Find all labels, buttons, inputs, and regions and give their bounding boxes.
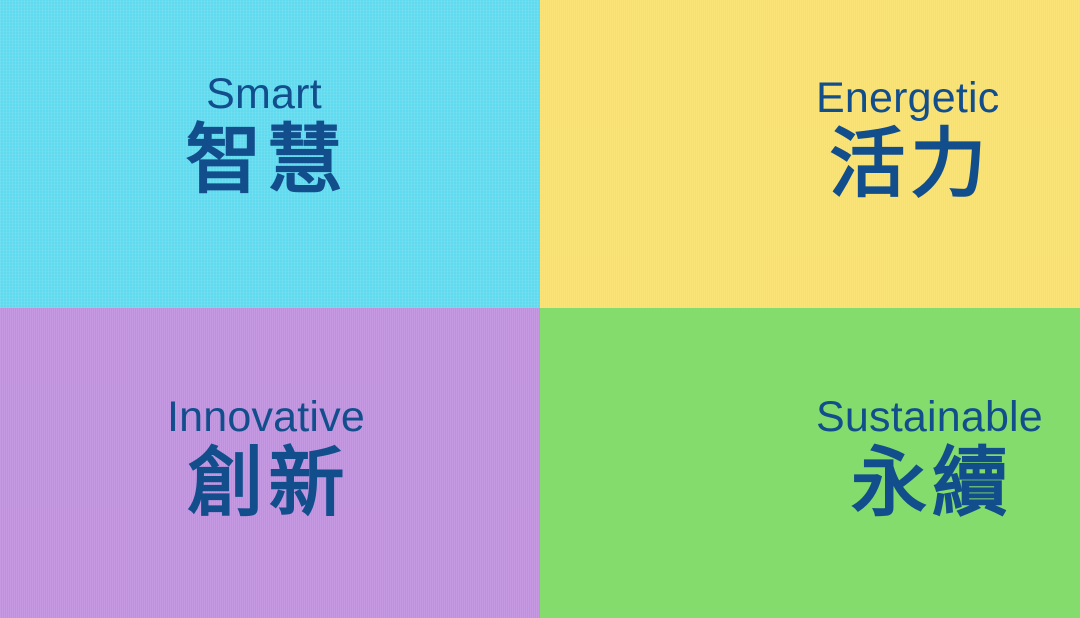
panel-text-block-smart: Smart 智慧	[181, 73, 348, 199]
panel-english-label-innovative: Innovative	[167, 396, 365, 439]
panel-english-label-smart: Smart	[206, 73, 322, 116]
panel-chinese-label-smart: 智慧	[181, 123, 348, 199]
panel-sustainable[interactable]: Sustainable 永續	[540, 308, 1080, 618]
panel-innovative[interactable]: Innovative 創新	[0, 308, 540, 618]
quadrant-grid: Smart 智慧 Energetic 活力 Innovative 創新 Sust…	[0, 0, 1080, 618]
panel-text-block-energetic: Energetic 活力	[816, 77, 999, 203]
panel-chinese-label-energetic: 活力	[824, 127, 991, 203]
panel-energetic[interactable]: Energetic 活力	[540, 0, 1080, 308]
panel-smart[interactable]: Smart 智慧	[0, 0, 540, 308]
panel-english-label-sustainable: Sustainable	[816, 396, 1043, 439]
panel-english-label-energetic: Energetic	[816, 77, 999, 120]
panel-chinese-label-innovative: 創新	[183, 446, 350, 522]
panel-text-block-innovative: Innovative 創新	[167, 396, 365, 522]
panel-chinese-label-sustainable: 永續	[846, 446, 1013, 522]
brand-values-board: Smart 智慧 Energetic 活力 Innovative 創新 Sust…	[0, 0, 1080, 618]
panel-text-block-sustainable: Sustainable 永續	[816, 396, 1043, 522]
